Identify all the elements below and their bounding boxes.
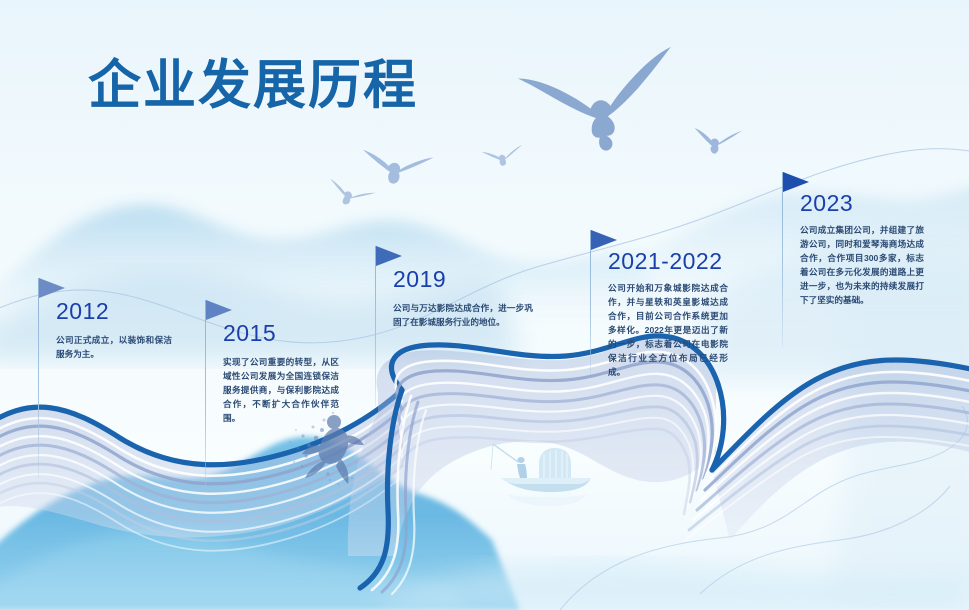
milestone-year: 2021-2022 xyxy=(608,248,723,275)
flag-pole xyxy=(38,278,39,478)
bird-small-mid xyxy=(481,145,524,168)
page-title: 企业发展历程 xyxy=(88,58,418,114)
milestone-year: 2012 xyxy=(56,298,109,325)
flag-icon xyxy=(206,300,232,320)
flag-pole xyxy=(782,172,783,347)
infographic-canvas: 企业发展历程 2012 公司正式成立，以装饰和保洁服务为主。 2015 实现了公… xyxy=(0,0,969,610)
milestone-description: 公司正式成立，以装饰和保洁服务为主。 xyxy=(56,334,172,362)
flag-pole xyxy=(590,230,591,375)
flag-icon xyxy=(783,172,809,192)
milestone-year: 2015 xyxy=(223,320,276,347)
milestone-description: 实现了公司重要的转型，从区域性公司发展为全国连锁保洁服务提供商，与保利影院达成合… xyxy=(223,356,339,426)
milestone-year: 2023 xyxy=(800,190,853,217)
bird-mid-left xyxy=(357,143,433,191)
milestone-description: 公司与万达影院达成合作，进一步巩固了在影城服务行业的地位。 xyxy=(393,302,533,330)
flag-pole xyxy=(375,246,376,406)
flag-pole xyxy=(205,300,206,490)
milestone-year: 2019 xyxy=(393,266,446,293)
bird-lower-left xyxy=(323,175,375,213)
flag-icon xyxy=(376,246,402,266)
flag-icon xyxy=(591,230,617,250)
milestone-description: 公司开始和万象城影院达成合作，并与星轶和英皇影城达成合作，目前公司合作系统更加多… xyxy=(608,282,728,379)
bird-large-center xyxy=(516,47,684,162)
milestone-description: 公司成立集团公司，并组建了旅游公司，同时和爱琴海商场达成合作，合作项目300多家… xyxy=(800,224,924,308)
bird-upper-right xyxy=(691,123,742,158)
flag-icon xyxy=(39,278,65,298)
